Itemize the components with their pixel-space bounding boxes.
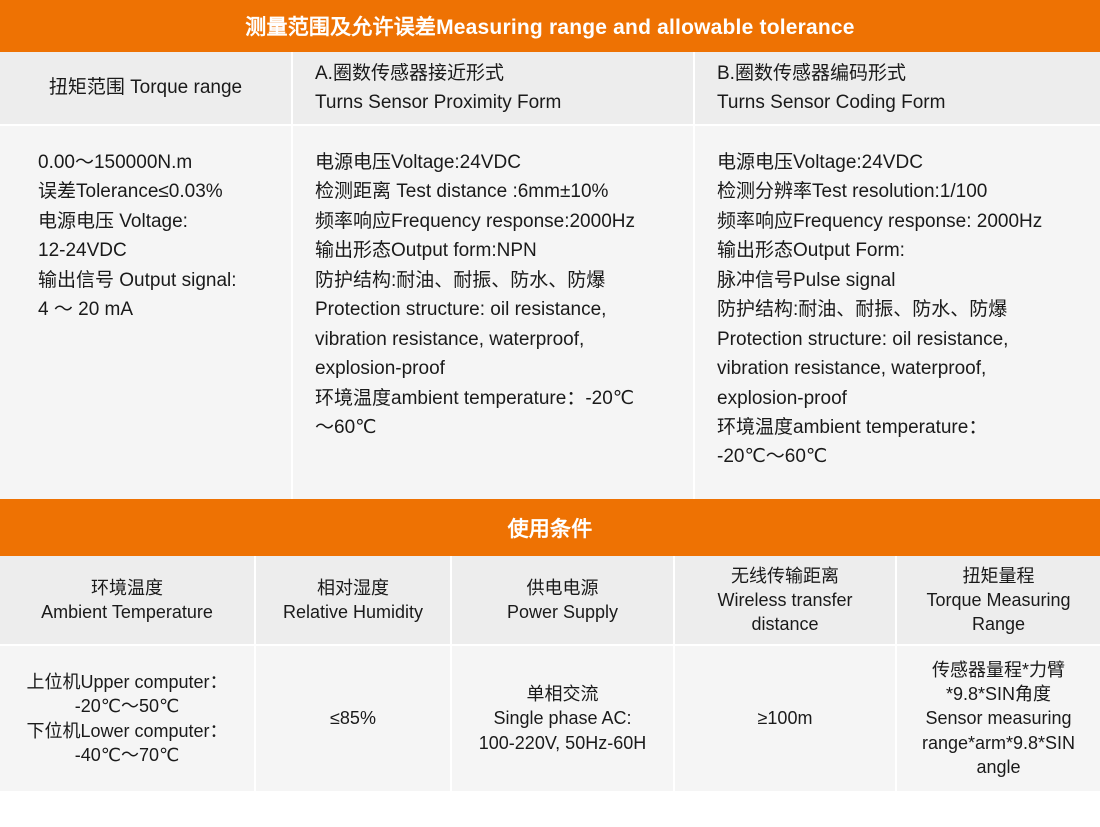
header-ambient-temperature: 环境温度 Ambient Temperature bbox=[0, 556, 256, 644]
header-wireless-line-2: Wireless transfer bbox=[717, 588, 852, 612]
power-supply-line-1: 单相交流 bbox=[527, 682, 599, 706]
header-wireless-line-3: distance bbox=[751, 612, 818, 636]
coding-line-9: explosion-proof bbox=[717, 384, 1084, 413]
coding-line-2: 检测分辨率Test resolution:1/100 bbox=[717, 177, 1084, 206]
cell-wireless-transfer-distance-value: ≥100m bbox=[675, 644, 897, 791]
coding-line-7: Protection structure: oil resistance, bbox=[717, 325, 1084, 354]
header-proximity-line-1: A.圈数传感器接近形式 bbox=[315, 59, 504, 88]
proximity-line-6: Protection structure: oil resistance, bbox=[315, 295, 677, 324]
relative-humidity-value: ≤85% bbox=[330, 706, 376, 730]
cell-coding-form-specs: 电源电压Voltage:24VDC 检测分辨率Test resolution:1… bbox=[695, 124, 1100, 499]
coding-line-8: vibration resistance, waterproof, bbox=[717, 354, 1084, 383]
measuring-range-header-row: 扭矩范围 Torque range A.圈数传感器接近形式 Turns Sens… bbox=[0, 52, 1100, 124]
proximity-line-2: 检测距离 Test distance :6mm±10% bbox=[315, 177, 677, 206]
header-torque-range: 扭矩范围 Torque range bbox=[0, 52, 293, 124]
usage-conditions-table: 环境温度 Ambient Temperature 相对湿度 Relative H… bbox=[0, 556, 1100, 791]
measuring-range-banner-title: 测量范围及允许误差Measuring range and allowable t… bbox=[245, 11, 854, 41]
wireless-transfer-distance-value: ≥100m bbox=[758, 706, 813, 730]
ambient-temperature-line-4: -40℃～70℃ bbox=[75, 743, 179, 767]
ambient-temperature-line-2: -20℃～50℃ bbox=[75, 694, 179, 718]
cell-proximity-form-specs: 电源电压Voltage:24VDC 检测距离 Test distance :6m… bbox=[293, 124, 695, 499]
cell-power-supply-value: 单相交流 Single phase AC: 100-220V, 50Hz-60H bbox=[452, 644, 675, 791]
proximity-line-3: 频率响应Frequency response:2000Hz bbox=[315, 207, 677, 236]
torque-range-line-6: 4 ～ 20 mA bbox=[38, 295, 275, 324]
measuring-range-banner: 测量范围及允许误差Measuring range and allowable t… bbox=[0, 0, 1100, 52]
coding-line-10: 环境温度ambient temperature： bbox=[717, 413, 1084, 442]
power-supply-line-3: 100-220V, 50Hz-60H bbox=[479, 731, 646, 755]
proximity-line-8: explosion-proof bbox=[315, 354, 677, 383]
header-relative-humidity-line-1: 相对湿度 bbox=[317, 576, 389, 600]
header-wireless-line-1: 无线传输距离 bbox=[731, 564, 839, 588]
header-proximity-line-2: Turns Sensor Proximity Form bbox=[315, 88, 561, 117]
torque-range-line-4: 12-24VDC bbox=[38, 236, 275, 265]
coding-line-4: 输出形态Output Form: bbox=[717, 236, 1084, 265]
power-supply-line-2: Single phase AC: bbox=[493, 706, 631, 730]
proximity-line-4: 输出形态Output form:NPN bbox=[315, 236, 677, 265]
header-power-supply: 供电电源 Power Supply bbox=[452, 556, 675, 644]
header-relative-humidity-line-2: Relative Humidity bbox=[283, 600, 423, 624]
cell-torque-range-specs: 0.00～150000N.m 误差Tolerance≤0.03% 电源电压 Vo… bbox=[0, 124, 293, 499]
header-coding-line-2: Turns Sensor Coding Form bbox=[717, 88, 945, 117]
proximity-line-7: vibration resistance, waterproof, bbox=[315, 325, 677, 354]
usage-conditions-banner: 使用条件 bbox=[0, 499, 1100, 556]
torque-measuring-range-line-4: range*arm*9.8*SIN bbox=[922, 731, 1075, 755]
torque-measuring-range-line-2: *9.8*SIN角度 bbox=[946, 682, 1051, 706]
proximity-line-10: ～60℃ bbox=[315, 413, 677, 442]
torque-measuring-range-line-3: Sensor measuring bbox=[925, 706, 1071, 730]
proximity-line-5: 防护结构:耐油、耐振、防水、防爆 bbox=[315, 266, 677, 295]
header-torque-measuring-line-2: Torque Measuring bbox=[926, 588, 1070, 612]
torque-range-line-2: 误差Tolerance≤0.03% bbox=[38, 177, 275, 206]
header-ambient-temperature-line-1: 环境温度 bbox=[91, 576, 163, 600]
spec-sheet: 测量范围及允许误差Measuring range and allowable t… bbox=[0, 0, 1100, 827]
header-power-supply-line-2: Power Supply bbox=[507, 600, 618, 624]
measuring-range-table: 扭矩范围 Torque range A.圈数传感器接近形式 Turns Sens… bbox=[0, 52, 1100, 499]
torque-range-line-1: 0.00～150000N.m bbox=[38, 148, 275, 177]
cell-torque-measuring-range-value: 传感器量程*力臂 *9.8*SIN角度 Sensor measuring ran… bbox=[897, 644, 1100, 791]
header-turns-sensor-coding-form: B.圈数传感器编码形式 Turns Sensor Coding Form bbox=[695, 52, 1100, 124]
coding-line-5: 脉冲信号Pulse signal bbox=[717, 266, 1084, 295]
header-ambient-temperature-line-2: Ambient Temperature bbox=[41, 600, 213, 624]
header-torque-measuring-line-3: Range bbox=[972, 612, 1025, 636]
header-power-supply-line-1: 供电电源 bbox=[527, 576, 599, 600]
ambient-temperature-line-1: 上位机Upper computer： bbox=[26, 670, 227, 694]
coding-line-6: 防护结构:耐油、耐振、防水、防爆 bbox=[717, 295, 1084, 324]
header-turns-sensor-proximity-form: A.圈数传感器接近形式 Turns Sensor Proximity Form bbox=[293, 52, 695, 124]
torque-range-line-3: 电源电压 Voltage: bbox=[38, 207, 275, 236]
usage-conditions-banner-title: 使用条件 bbox=[508, 513, 593, 543]
usage-conditions-data-row: 上位机Upper computer： -20℃～50℃ 下位机Lower com… bbox=[0, 644, 1100, 791]
header-wireless-transfer-distance: 无线传输距离 Wireless transfer distance bbox=[675, 556, 897, 644]
header-torque-range-line-1: 扭矩范围 Torque range bbox=[49, 73, 242, 102]
header-torque-measuring-line-1: 扭矩量程 bbox=[963, 564, 1035, 588]
usage-conditions-header-row: 环境温度 Ambient Temperature 相对湿度 Relative H… bbox=[0, 556, 1100, 644]
cell-relative-humidity-value: ≤85% bbox=[256, 644, 452, 791]
torque-range-line-5: 输出信号 Output signal: bbox=[38, 266, 275, 295]
header-relative-humidity: 相对湿度 Relative Humidity bbox=[256, 556, 452, 644]
proximity-line-9: 环境温度ambient temperature：-20℃ bbox=[315, 384, 677, 413]
header-coding-line-1: B.圈数传感器编码形式 bbox=[717, 59, 906, 88]
torque-measuring-range-line-5: angle bbox=[976, 755, 1020, 779]
cell-ambient-temperature-value: 上位机Upper computer： -20℃～50℃ 下位机Lower com… bbox=[0, 644, 256, 791]
coding-line-11: -20℃～60℃ bbox=[717, 442, 1084, 471]
measuring-range-data-row: 0.00～150000N.m 误差Tolerance≤0.03% 电源电压 Vo… bbox=[0, 124, 1100, 499]
ambient-temperature-line-3: 下位机Lower computer： bbox=[26, 719, 227, 743]
coding-line-3: 频率响应Frequency response: 2000Hz bbox=[717, 207, 1084, 236]
header-torque-measuring-range: 扭矩量程 Torque Measuring Range bbox=[897, 556, 1100, 644]
proximity-line-1: 电源电压Voltage:24VDC bbox=[315, 148, 677, 177]
torque-measuring-range-line-1: 传感器量程*力臂 bbox=[932, 658, 1065, 682]
coding-line-1: 电源电压Voltage:24VDC bbox=[717, 148, 1084, 177]
